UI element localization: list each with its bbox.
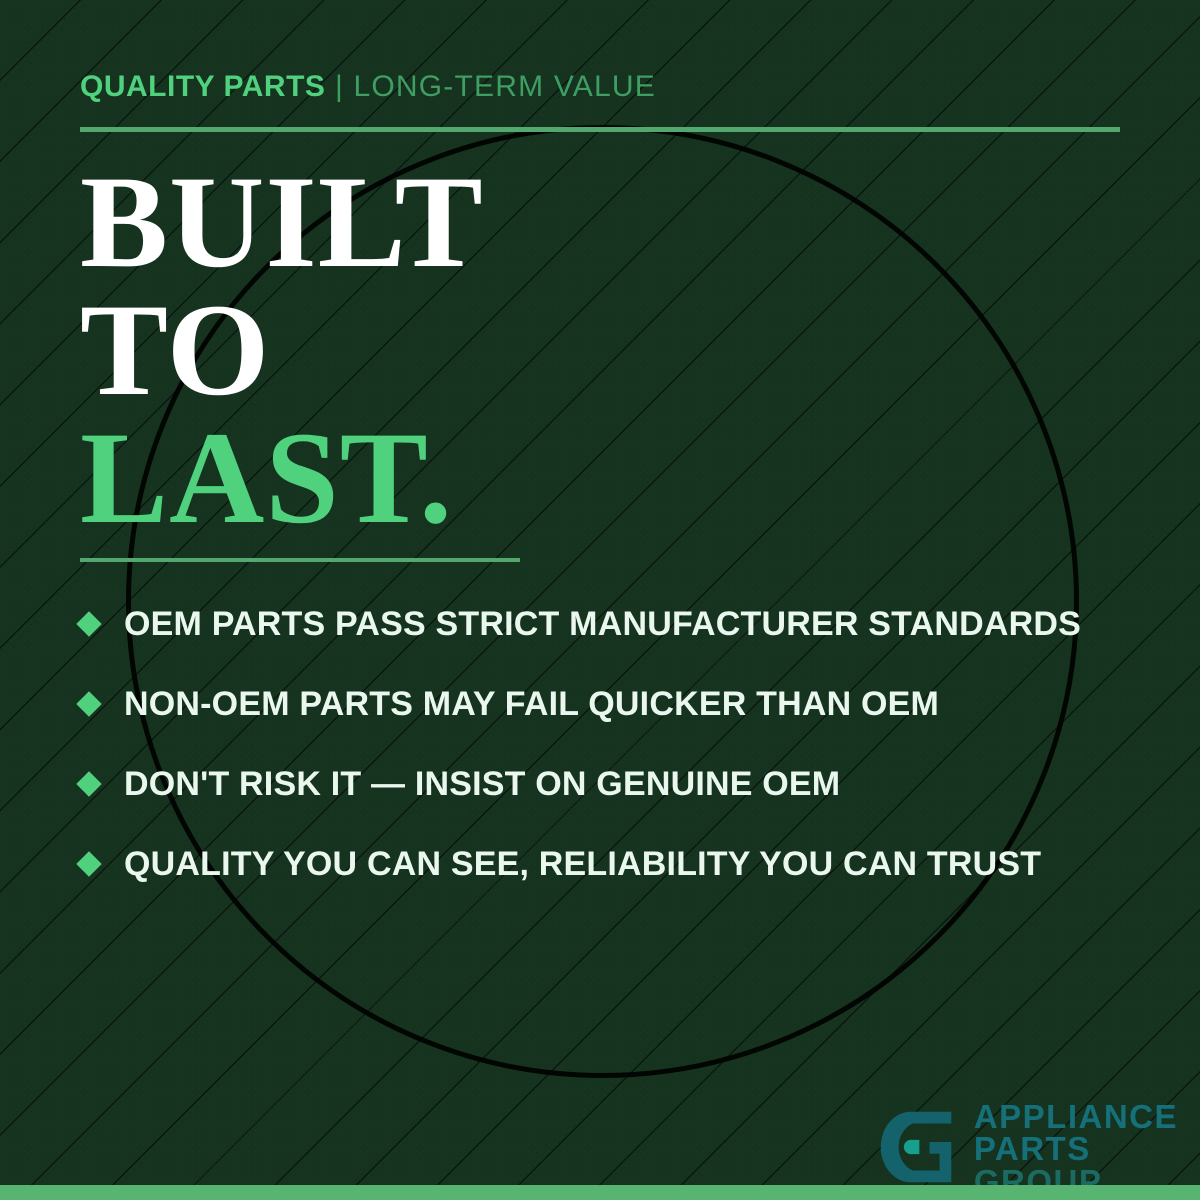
- divider-rule-top: [80, 127, 1120, 132]
- list-item-label: OEM PARTS PASS STRICT MANUFACTURER STAND…: [124, 605, 1081, 644]
- diamond-bullet-icon: [76, 691, 101, 716]
- eyebrow-sub-text: LONG-TERM VALUE: [353, 70, 656, 103]
- g-monogram-icon: [874, 1105, 958, 1189]
- eyebrow-strong-text: QUALITY PARTS: [80, 70, 325, 103]
- diamond-bullet-icon: [76, 611, 101, 636]
- eyebrow-separator: |: [325, 70, 353, 103]
- page-title: BUILT TO LAST.: [80, 158, 484, 542]
- divider-rule-middle: [80, 558, 520, 562]
- brand-word-parts: PARTS: [974, 1133, 1178, 1165]
- diamond-bullet-icon: [76, 851, 101, 876]
- list-item: OEM PARTS PASS STRICT MANUFACTURER STAND…: [80, 584, 1170, 664]
- eyebrow-heading: QUALITY PARTS | LONG-TERM VALUE: [80, 72, 656, 102]
- brand-word-appliance: APPLIANCE: [974, 1101, 1178, 1133]
- list-item-label: QUALITY YOU CAN SEE, RELIABILITY YOU CAN…: [124, 845, 1041, 884]
- brand-wordmark: APPLIANCE PARTS GROUP: [974, 1101, 1178, 1198]
- diamond-bullet-icon: [76, 771, 101, 796]
- headline-line-3: LAST.: [80, 414, 484, 542]
- list-item-label: DON'T RISK IT — INSIST ON GENUINE OEM: [124, 765, 840, 804]
- list-item-label: NON-OEM PARTS MAY FAIL QUICKER THAN OEM: [124, 685, 939, 724]
- bottom-accent-bar: [0, 1185, 1200, 1200]
- list-item: QUALITY YOU CAN SEE, RELIABILITY YOU CAN…: [80, 824, 1170, 904]
- headline-line-2: TO: [80, 286, 484, 414]
- benefits-list: OEM PARTS PASS STRICT MANUFACTURER STAND…: [80, 584, 1170, 904]
- headline-line-1: BUILT: [80, 158, 484, 286]
- poster-canvas: QUALITY PARTS | LONG-TERM VALUE BUILT TO…: [0, 0, 1200, 1200]
- list-item: NON-OEM PARTS MAY FAIL QUICKER THAN OEM: [80, 664, 1170, 744]
- list-item: DON'T RISK IT — INSIST ON GENUINE OEM: [80, 744, 1170, 824]
- brand-logo: APPLIANCE PARTS GROUP: [874, 1101, 1178, 1198]
